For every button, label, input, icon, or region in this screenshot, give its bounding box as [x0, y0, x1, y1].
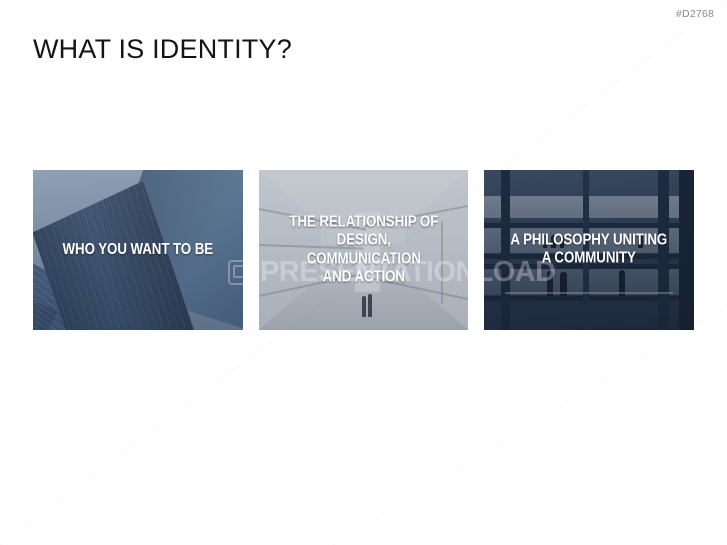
page-title: WHAT IS IDENTITY? — [33, 34, 292, 65]
image-tile-1-caption: WHO YOU WANT TO BE — [33, 241, 243, 259]
image-tile-2[interactable]: THE RELATIONSHIP OF DESIGN, COMMUNICATIO… — [259, 170, 469, 330]
image-tile-1[interactable]: WHO YOU WANT TO BE — [33, 170, 243, 330]
slide-canvas: #D2768 WHAT IS IDENTITY? WHO YOU WANT TO… — [0, 0, 727, 545]
image-tile-3[interactable]: A PHILOSOPHY UNITING A COMMUNITY — [484, 170, 694, 330]
caption-line: A PHILOSOPHY UNITING — [504, 232, 674, 250]
caption-line: THE RELATIONSHIP OF — [278, 213, 448, 231]
image-tile-row: WHO YOU WANT TO BE THE — [33, 170, 694, 330]
caption-line: AND ACTION — [278, 268, 448, 286]
caption-line: DESIGN, COMMUNICATION — [278, 232, 448, 269]
image-tile-2-caption: THE RELATIONSHIP OF DESIGN, COMMUNICATIO… — [259, 213, 469, 286]
slide-id-label: #D2768 — [676, 8, 714, 20]
caption-line: WHO YOU WANT TO BE — [53, 241, 223, 259]
image-tile-3-caption: A PHILOSOPHY UNITING A COMMUNITY — [484, 232, 694, 269]
caption-line: A COMMUNITY — [504, 250, 674, 268]
